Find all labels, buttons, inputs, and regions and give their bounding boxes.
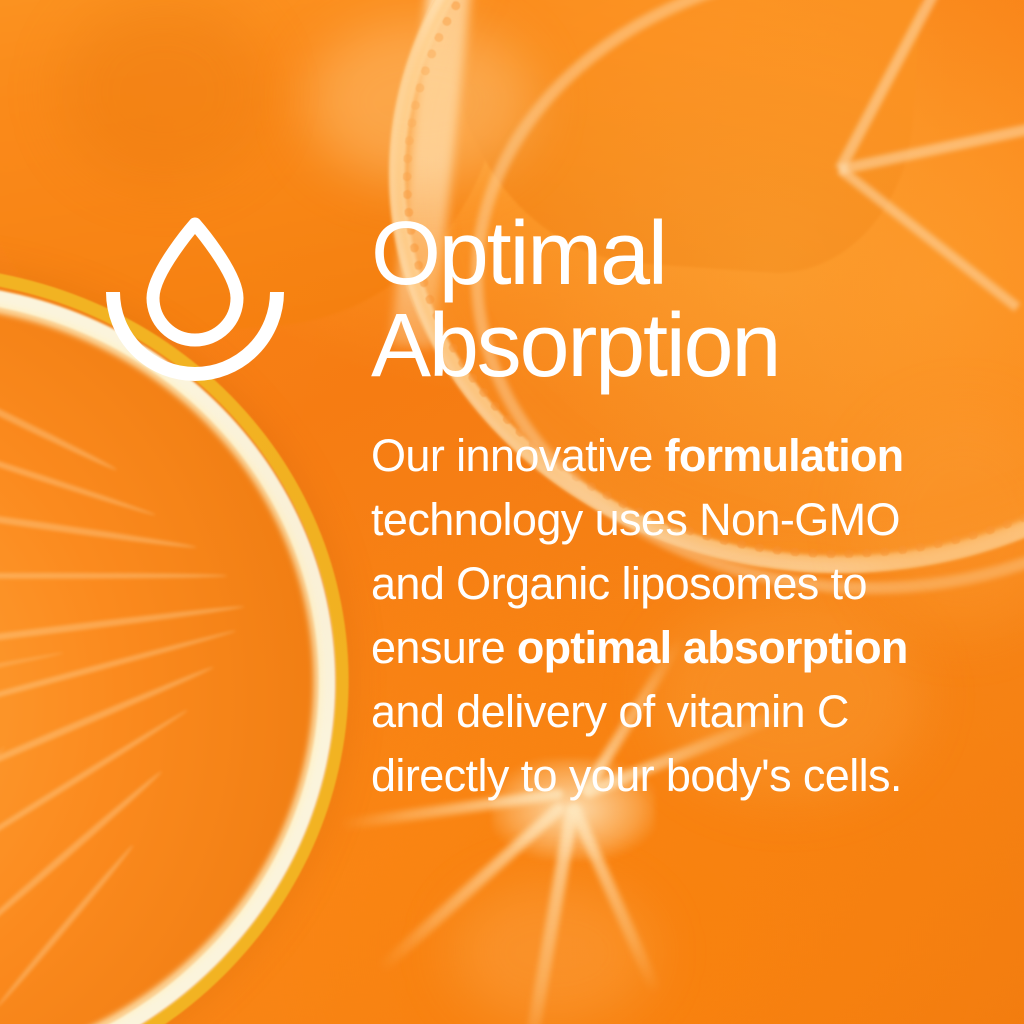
body-emphasis: optimal absorption (517, 622, 908, 673)
body-line-3: and Organic liposomes to (371, 552, 971, 616)
headline-line-1: Optimal (371, 208, 991, 300)
card-content: Optimal Absorption Our innovative formul… (0, 0, 1024, 1024)
optimal-absorption-card: Optimal Absorption Our innovative formul… (0, 0, 1024, 1024)
body-emphasis: formulation (665, 430, 904, 481)
body-line-1: Our innovative formulation (371, 424, 971, 488)
body-line-6: directly to your body's cells. (371, 744, 971, 808)
body-text: and delivery of vitamin C (371, 686, 849, 737)
body-text: ensure (371, 622, 517, 673)
body-line-4: ensure optimal absorption (371, 616, 971, 680)
headline-line-2: Absorption (371, 300, 991, 392)
body-paragraph: Our innovative formulationtechnology use… (371, 424, 971, 808)
water-droplet-arc-icon (105, 212, 285, 388)
body-line-5: and delivery of vitamin C (371, 680, 971, 744)
body-text: Our innovative (371, 430, 665, 481)
page-title: Optimal Absorption (371, 208, 991, 392)
body-text: directly to your body's cells. (371, 750, 902, 801)
body-line-2: technology uses Non-GMO (371, 488, 971, 552)
body-text: and Organic liposomes to (371, 558, 867, 609)
body-text: technology uses Non-GMO (371, 494, 900, 545)
